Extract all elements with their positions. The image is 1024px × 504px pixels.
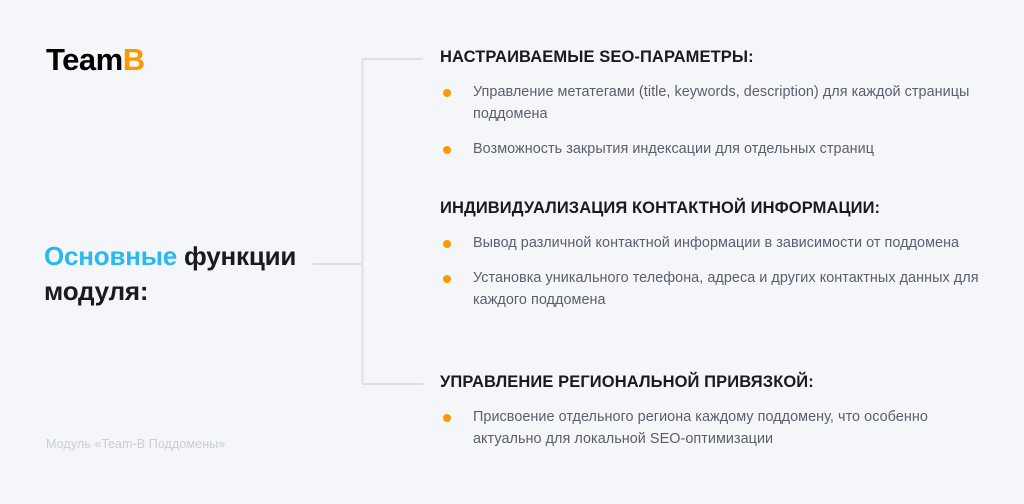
list-item: Управление метатегами (title, keywords, … [440,82,1000,126]
logo-text-b: B [123,42,145,77]
list-item-text: Управление метатегами (title, keywords, … [473,84,969,122]
list-item: Установка уникального телефона, адреса и… [440,268,1000,312]
list-item-text: Вывод различной контактной информации в … [473,235,959,251]
logo-text-team: Team [46,42,123,77]
page-title: Основные функции модуля: [44,239,334,308]
section-regional-binding: УПРАВЛЕНИЕ РЕГИОНАЛЬНОЙ ПРИВЯЗКОЙ: Присв… [440,373,1000,451]
bullet-dot-icon [443,89,451,97]
bullet-dot-icon [443,240,451,248]
bullet-dot-icon [443,414,451,422]
section-seo-parameters: НАСТРАИВАЕМЫЕ SEO-ПАРАМЕТРЫ: Управление … [440,48,1000,160]
bullet-dot-icon [443,275,451,283]
slide-canvas: TeamB Основные функции модуля: Модуль «T… [0,0,1024,504]
section-heading: НАСТРАИВАЕМЫЕ SEO-ПАРАМЕТРЫ: [440,48,1000,68]
bullet-list: Вывод различной контактной информации в … [440,233,1000,312]
list-item: Присвоение отдельного региона каждому по… [440,407,1000,451]
page-title-accent: Основные [44,241,177,271]
section-heading: ИНДИВИДУАЛИЗАЦИЯ КОНТАКТНОЙ ИНФОРМАЦИИ: [440,199,1000,219]
list-item: Вывод различной контактной информации в … [440,233,1000,255]
bullet-list: Присвоение отдельного региона каждому по… [440,407,1000,451]
list-item-text: Присвоение отдельного региона каждому по… [473,409,928,447]
bullet-dot-icon [443,146,451,154]
list-item-text: Возможность закрытия индексации для отде… [473,141,874,157]
section-heading: УПРАВЛЕНИЕ РЕГИОНАЛЬНОЙ ПРИВЯЗКОЙ: [440,373,1000,393]
module-footnote: Модуль «Team-B Поддомены» [46,437,225,451]
section-contact-personalization: ИНДИВИДУАЛИЗАЦИЯ КОНТАКТНОЙ ИНФОРМАЦИИ: … [440,199,1000,311]
list-item: Возможность закрытия индексации для отде… [440,139,1000,161]
brand-logo: TeamB [46,44,145,75]
bullet-list: Управление метатегами (title, keywords, … [440,82,1000,161]
list-item-text: Установка уникального телефона, адреса и… [473,270,979,308]
